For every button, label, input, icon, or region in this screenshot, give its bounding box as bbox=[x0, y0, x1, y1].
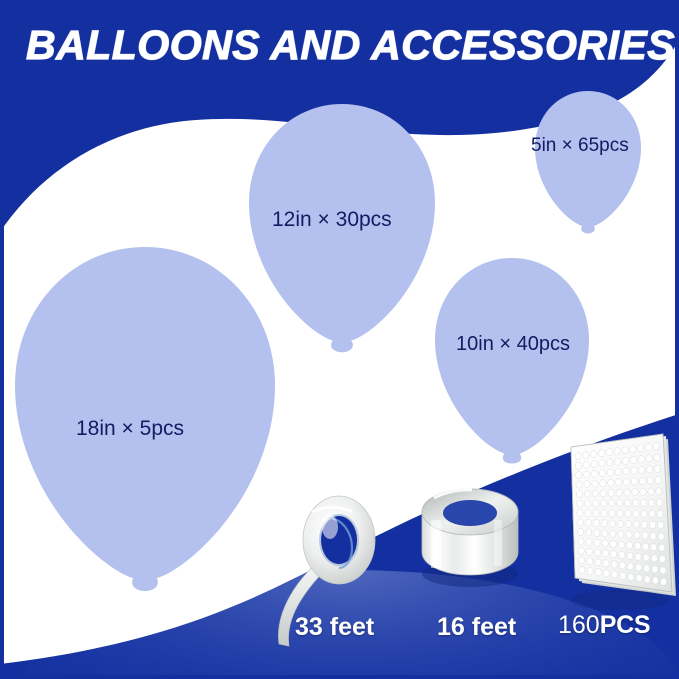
bottom-border bbox=[0, 675, 679, 679]
strip-ring-icon bbox=[422, 489, 518, 587]
product-image-canvas: BALLOONS AND ACCESSORIES 18in × 5pcs 12i… bbox=[0, 0, 679, 679]
glue-dots-unit: PCS bbox=[600, 611, 651, 639]
glue-dots-count: 160 bbox=[558, 611, 600, 639]
right-border bbox=[675, 0, 679, 679]
left-border bbox=[0, 0, 4, 679]
product-illustration bbox=[0, 0, 679, 679]
glue-dots-label: 160PCS bbox=[558, 611, 650, 640]
page-title: BALLOONS AND ACCESSORIES bbox=[26, 22, 675, 69]
strip-ring-label: 16 feet bbox=[437, 613, 516, 642]
tape-roll-label: 33 feet bbox=[295, 613, 374, 642]
